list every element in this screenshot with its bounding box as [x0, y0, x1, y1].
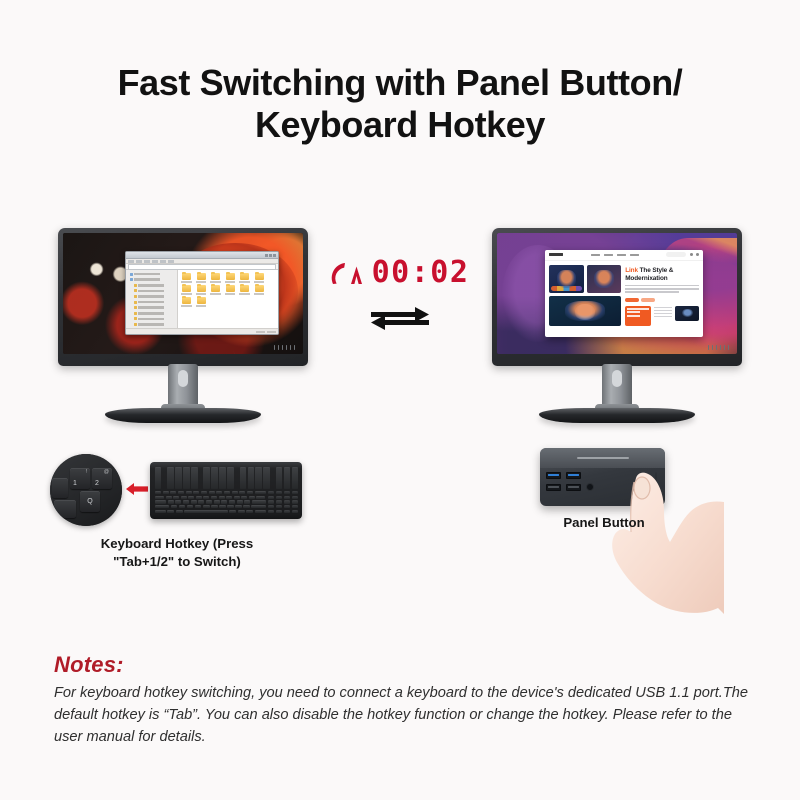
web-nav-links	[567, 254, 662, 257]
folder-item	[238, 273, 252, 283]
web-image-gallery	[549, 265, 621, 333]
monitor-left-chin	[63, 342, 303, 353]
key-generic	[52, 478, 68, 498]
monitor-right-osd-buttons	[708, 345, 729, 350]
monitor-right-chin	[497, 342, 737, 353]
key-tab	[54, 500, 76, 518]
web-browser-window: Link The Style & Modernixation	[545, 250, 703, 337]
monitor-right: Link The Style & Modernixation	[492, 228, 742, 366]
gallery-card	[549, 265, 584, 293]
page-title-line-1: Fast Switching with Panel Button/	[118, 62, 683, 103]
folder-item	[252, 285, 266, 295]
panel-button[interactable]	[655, 473, 657, 491]
folder-item	[209, 273, 223, 283]
card-slot-icon	[638, 500, 660, 504]
panel-button-group: Panel Button	[518, 448, 718, 530]
web-nav-icons	[690, 253, 699, 256]
monitor-left-bezel	[58, 228, 308, 366]
gallery-card	[549, 296, 621, 326]
switch-indicator: 00:02	[316, 258, 484, 332]
usb2-port-icon	[546, 484, 561, 491]
dock-brand-mark	[577, 457, 629, 460]
panel-button-caption: Panel Button	[524, 515, 684, 530]
speedometer-icon	[331, 260, 365, 287]
folder-item	[223, 273, 237, 283]
infographic-canvas: Fast Switching with Panel Button/ Keyboa…	[0, 0, 800, 800]
keyboard-hotkey-caption-line-1: Keyboard Hotkey (Press	[101, 536, 253, 551]
key-closeup-inset: ! 1 @ 2 Q	[50, 454, 122, 526]
usb3-port-icon	[546, 472, 561, 479]
dock-port-rows	[546, 472, 659, 491]
web-headline-rest: The Style &	[640, 267, 674, 274]
dock-usb-row-bottom	[546, 483, 659, 491]
monitor-right-stand-neck	[602, 364, 632, 408]
notes-heading: Notes:	[54, 652, 754, 678]
folder-item	[180, 273, 194, 283]
web-headline-line2: Modernixation	[625, 275, 667, 282]
web-hero: Link The Style & Modernixation	[545, 261, 703, 337]
usb2-port-icon	[566, 484, 581, 491]
keyboard-hotkey-caption: Keyboard Hotkey (Press "Tab+1/2" to Swit…	[46, 535, 308, 572]
web-logo	[549, 253, 563, 256]
page-title: Fast Switching with Panel Button/ Keyboa…	[0, 62, 800, 147]
red-left-arrow-icon	[126, 482, 148, 501]
kvm-docking-station-icon	[540, 448, 665, 506]
explorer-statusbar	[126, 328, 277, 334]
led-indicators	[642, 492, 660, 495]
keyboard-hotkey-caption-line-2: "Tab+1/2" to Switch)	[113, 554, 241, 569]
notes-body: For keyboard hotkey switching, you need …	[54, 682, 754, 749]
key-2: @ 2	[92, 468, 112, 489]
keyboard-hotkey-illustration: ! 1 @ 2 Q	[46, 452, 308, 528]
key-1: ! 1	[70, 468, 90, 489]
monitor-right-bezel: Link The Style & Modernixation	[492, 228, 742, 366]
key-q: Q	[80, 491, 100, 512]
dock-right-controls	[638, 492, 660, 504]
notes-section: Notes: For keyboard hotkey switching, yo…	[54, 652, 754, 749]
dock-top-shell	[540, 448, 665, 468]
monitor-left-stand-neck	[168, 364, 198, 408]
web-headline: Link The Style & Modernixation	[625, 267, 699, 283]
folder-item	[223, 285, 237, 295]
folder-item	[180, 297, 194, 307]
file-explorer-window	[125, 251, 278, 335]
folder-item	[238, 285, 252, 295]
folder-item	[194, 297, 208, 307]
folder-item	[252, 273, 266, 283]
monitor-left-screen	[63, 233, 303, 354]
usb3-port-icon	[566, 472, 581, 479]
timer-row: 00:02	[316, 258, 484, 288]
folder-item	[209, 285, 223, 295]
folder-item	[194, 273, 208, 283]
monitor-left-osd-buttons	[274, 345, 295, 350]
monitor-left	[58, 228, 308, 366]
dock-usb-row-top	[546, 472, 659, 479]
explorer-body	[126, 270, 277, 328]
web-navbar	[545, 250, 703, 261]
folder-item	[180, 285, 194, 295]
dock-front-panel	[540, 468, 665, 506]
keyboard-hotkey-group: ! 1 @ 2 Q	[46, 452, 308, 572]
key-1-label: 1	[73, 480, 77, 487]
page-title-line-2: Keyboard Hotkey	[255, 104, 545, 145]
web-promo-row	[625, 306, 699, 326]
explorer-file-grid	[178, 270, 278, 328]
web-promo-text	[654, 306, 672, 319]
web-search-box	[666, 252, 686, 257]
web-tag-buttons	[625, 298, 699, 302]
monitor-right-screen: Link The Style & Modernixation	[497, 233, 737, 354]
audio-jack-icon	[586, 483, 594, 491]
explorer-titlebar	[126, 252, 277, 259]
panel-button-icon[interactable]	[655, 472, 657, 491]
key-2-label: 2	[95, 480, 99, 487]
web-paragraph	[625, 285, 699, 295]
keyboard-function-row	[155, 467, 298, 489]
bidirectional-arrow-icon	[316, 304, 484, 332]
monitor-right-stand-base	[539, 404, 695, 426]
web-promo-card	[625, 306, 651, 326]
web-video-thumbnail	[675, 306, 699, 321]
countdown-timer: 00:02	[372, 258, 470, 288]
monitor-left-stand-base	[105, 404, 261, 426]
folder-item	[194, 285, 208, 295]
full-size-keyboard-icon	[150, 462, 302, 519]
key-q-label: Q	[87, 498, 92, 505]
explorer-tree-sidebar	[126, 270, 177, 328]
gallery-card	[587, 265, 622, 293]
web-headline-accent: Link	[625, 267, 638, 274]
web-copy-column: Link The Style & Modernixation	[625, 265, 699, 333]
keyboard-numpad	[268, 491, 298, 513]
